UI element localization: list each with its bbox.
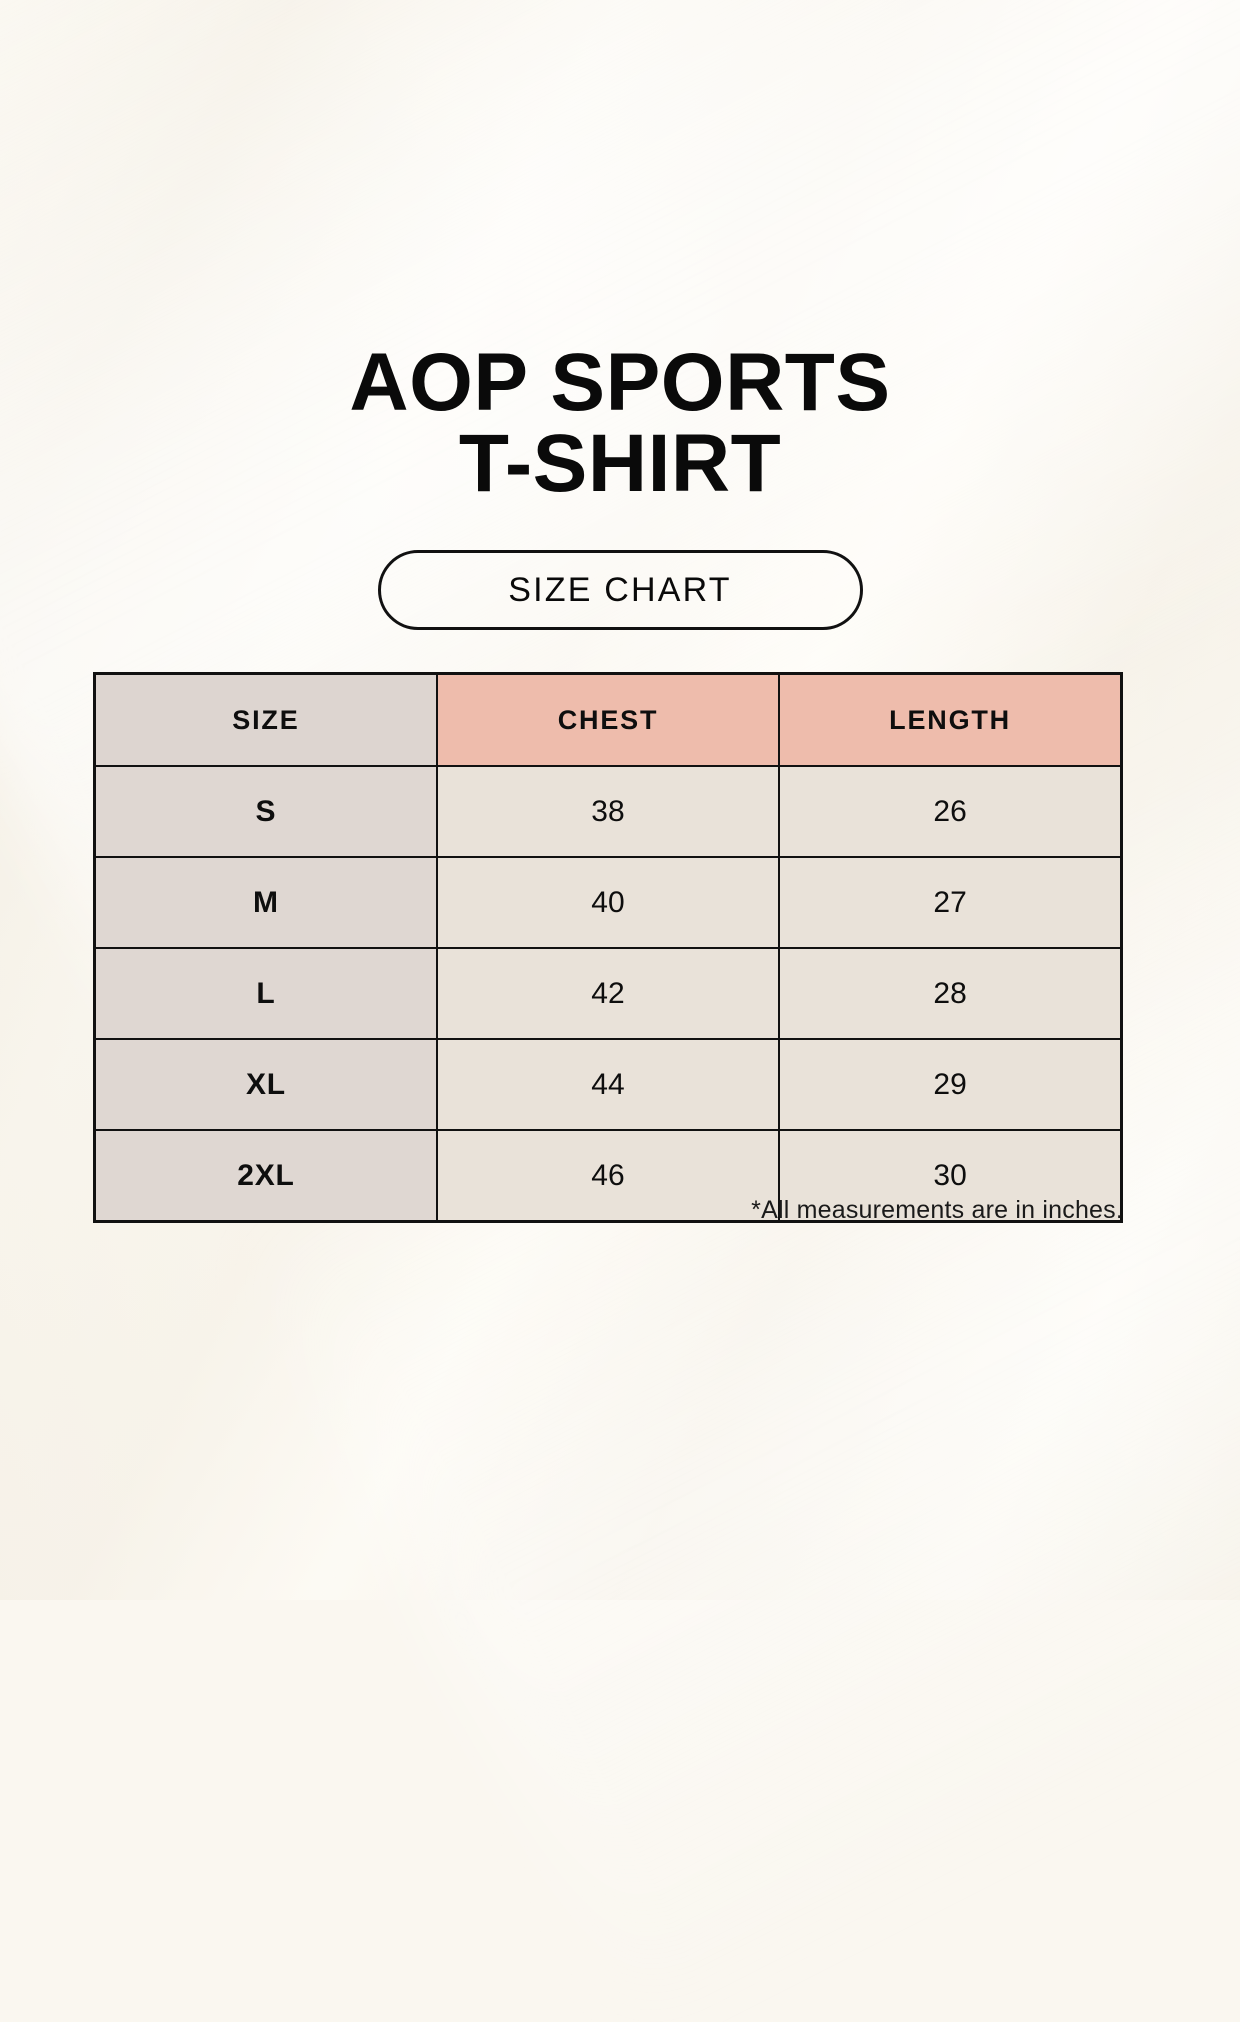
table-header-row: SIZE CHEST LENGTH	[95, 674, 1122, 767]
size-chart-badge-label: SIZE CHART	[508, 571, 732, 610]
measurement-footnote: *All measurements are in inches.	[93, 1196, 1123, 1225]
cell-size: S	[95, 766, 437, 857]
cell-chest: 44	[437, 1039, 779, 1130]
cell-size: XL	[95, 1039, 437, 1130]
column-header-length: LENGTH	[779, 674, 1121, 767]
cell-size: M	[95, 857, 437, 948]
table-row: S 38 26	[95, 766, 1122, 857]
table-row: L 42 28	[95, 948, 1122, 1039]
size-chart-badge: SIZE CHART	[378, 550, 863, 630]
page-title-line-1: AOP SPORTS	[0, 342, 1240, 423]
table-row: XL 44 29	[95, 1039, 1122, 1130]
page-title-line-2: T-SHIRT	[0, 423, 1240, 504]
size-table-header: SIZE CHEST LENGTH	[95, 674, 1122, 767]
cell-chest: 40	[437, 857, 779, 948]
size-table-container: SIZE CHEST LENGTH S 38 26 M 40 27 L	[93, 672, 1123, 1223]
size-table: SIZE CHEST LENGTH S 38 26 M 40 27 L	[93, 672, 1123, 1223]
column-header-chest: CHEST	[437, 674, 779, 767]
size-chart-badge-container: SIZE CHART	[0, 550, 1240, 630]
page-title: AOP SPORTS T-SHIRT	[0, 342, 1240, 504]
size-table-body: S 38 26 M 40 27 L 42 28 XL 44 29	[95, 766, 1122, 1222]
size-chart-document: AOP SPORTS T-SHIRT SIZE CHART SIZE CHEST…	[0, 0, 1240, 1600]
cell-size: L	[95, 948, 437, 1039]
table-row: M 40 27	[95, 857, 1122, 948]
cell-length: 28	[779, 948, 1121, 1039]
column-header-size: SIZE	[95, 674, 437, 767]
cell-length: 27	[779, 857, 1121, 948]
cell-length: 26	[779, 766, 1121, 857]
cell-chest: 42	[437, 948, 779, 1039]
cell-chest: 38	[437, 766, 779, 857]
cell-length: 29	[779, 1039, 1121, 1130]
